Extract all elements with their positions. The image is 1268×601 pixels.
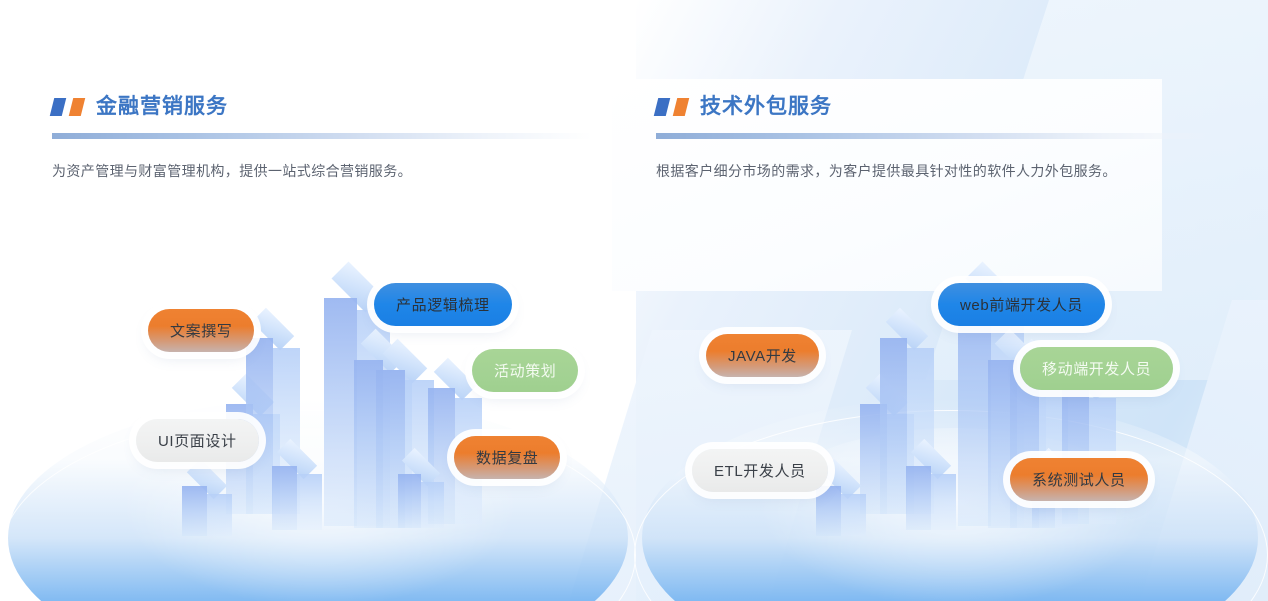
tag-pill[interactable]: 移动端开发人员 (1020, 347, 1173, 390)
panel-description: 为资产管理与财富管理机构，提供一站式综合营销服务。 (52, 161, 592, 181)
page-title: 金融营销服务 (96, 92, 228, 122)
tag-label: ETL开发人员 (714, 460, 806, 481)
tag-pill[interactable]: JAVA开发 (706, 334, 819, 377)
tag-label: 数据复盘 (476, 447, 538, 468)
bar-column (272, 458, 322, 530)
service-panel-tech-outsourcing: 技术外包服务 根据客户细分市场的需求，为客户提供最具针对性的软件人力外包服务。 (636, 0, 1268, 601)
tag-label: UI页面设计 (158, 430, 237, 451)
tag-pill[interactable]: UI页面设计 (136, 419, 259, 462)
title-underline (52, 133, 592, 139)
bar-chart-illustration: JAVA开发 web前端开发人员 移动端开发人员 ETL开发人员 系统测试人员 (636, 278, 1268, 601)
tag-label: JAVA开发 (728, 345, 797, 366)
tag-pill[interactable]: web前端开发人员 (938, 283, 1105, 326)
tag-label: 系统测试人员 (1032, 469, 1126, 490)
page-title: 技术外包服务 (700, 92, 832, 122)
bar-column (816, 478, 866, 536)
tag-pill[interactable]: 产品逻辑梳理 (374, 283, 512, 326)
tag-label: 移动端开发人员 (1042, 358, 1151, 379)
tag-label: 活动策划 (494, 360, 556, 381)
tag-pill[interactable]: 数据复盘 (454, 436, 560, 479)
panel-description: 根据客户细分市场的需求，为客户提供最具针对性的软件人力外包服务。 (656, 161, 1216, 181)
section-mark-icon (52, 98, 83, 116)
bar-column (182, 478, 232, 536)
bar-column (398, 466, 444, 528)
service-panel-financial-marketing: 金融营销服务 为资产管理与财富管理机构，提供一站式综合营销服务。 (0, 0, 636, 601)
illustration-stage: 金融营销服务 为资产管理与财富管理机构，提供一站式综合营销服务。 (0, 0, 1268, 601)
tag-pill[interactable]: ETL开发人员 (692, 449, 828, 492)
bar-column (906, 458, 956, 530)
panel-header: 技术外包服务 根据客户细分市场的需求，为客户提供最具针对性的软件人力外包服务。 (656, 92, 1216, 181)
isometric-bars (636, 278, 1268, 601)
title-underline (656, 133, 1216, 139)
panel-header: 金融营销服务 为资产管理与财富管理机构，提供一站式综合营销服务。 (52, 92, 592, 181)
tag-label: web前端开发人员 (960, 294, 1083, 315)
tag-label: 产品逻辑梳理 (396, 294, 490, 315)
section-mark-icon (656, 98, 687, 116)
tag-pill[interactable]: 文案撰写 (148, 309, 254, 352)
tag-pill[interactable]: 活动策划 (472, 349, 578, 392)
bar-chart-illustration: 文案撰写 产品逻辑梳理 活动策划 UI页面设计 数据复盘 (0, 278, 636, 601)
tag-label: 文案撰写 (170, 320, 232, 341)
tag-pill[interactable]: 系统测试人员 (1010, 458, 1148, 501)
